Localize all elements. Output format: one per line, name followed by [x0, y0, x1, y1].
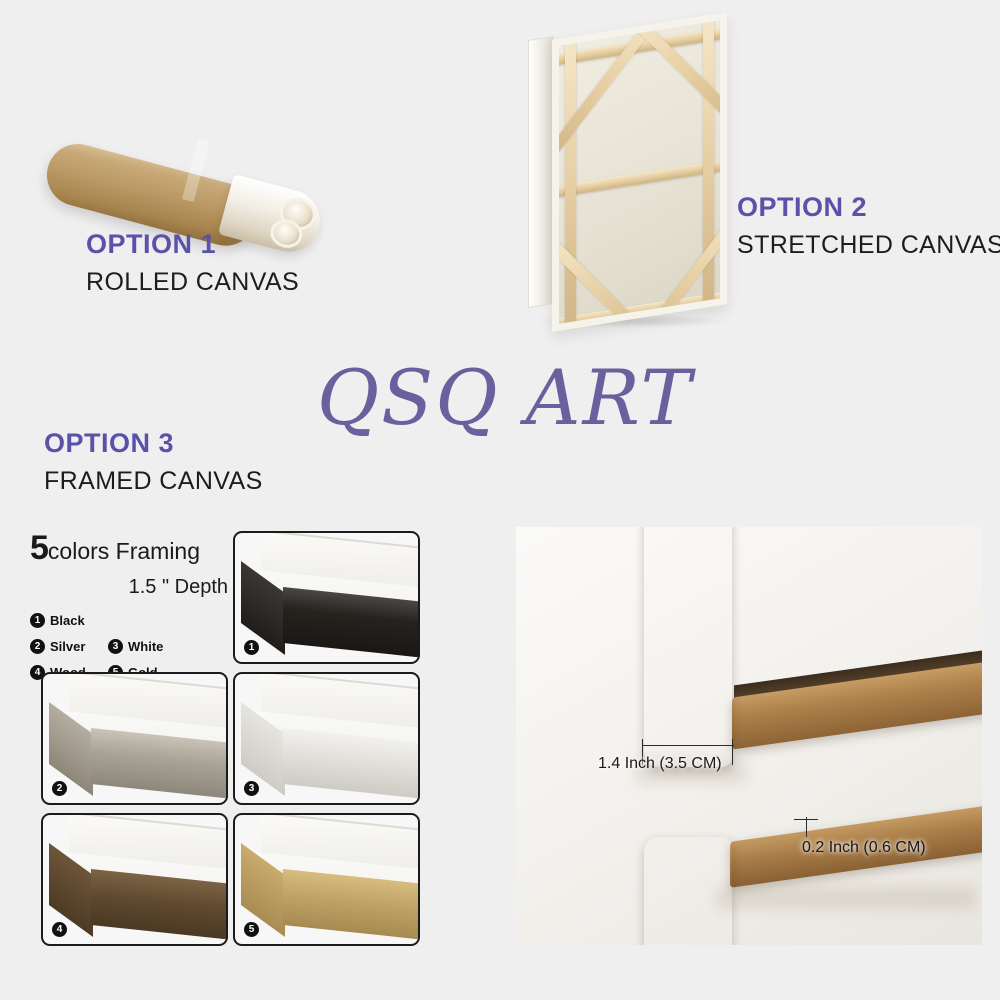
framing-title-rest: colors Framing [48, 538, 200, 564]
badge-5-icon: 5 [244, 922, 259, 937]
legend-row: 2 Silver 3 White [30, 639, 230, 654]
legend-item-white: 3 White [108, 639, 186, 654]
frame-swatch-gold[interactable]: 5 [233, 813, 420, 946]
option-3-kicker: OPTION 3 [44, 430, 263, 457]
frame-swatch-black[interactable]: 1 [233, 531, 420, 664]
badge-1-icon: 1 [30, 613, 45, 628]
frame-swatch-silver[interactable]: 2 [41, 672, 228, 805]
badge-1-icon: 1 [244, 640, 259, 655]
brand-wordmark: QSQ ART [295, 355, 715, 440]
stretcher-bar-left [565, 32, 576, 332]
frame-swatch-wood[interactable]: 4 [41, 813, 228, 946]
product-infographic: OPTION 1 ROLLED CANVAS OPTION 2 STRETCHE… [0, 0, 1000, 1000]
dim-tick-right [732, 739, 733, 765]
legend-label-silver: Silver [50, 639, 85, 654]
option-1-name: ROLLED CANVAS [86, 270, 299, 295]
badge-2-icon: 2 [30, 639, 45, 654]
dimension-frame-gap: 0.2 Inch (0.6 CM) [802, 839, 926, 857]
option-2-kicker: OPTION 2 [737, 194, 1000, 221]
canvas-side-edge [528, 36, 554, 308]
dim-tick-gap [806, 817, 807, 837]
frame-swatch-white[interactable]: 3 [233, 672, 420, 805]
stretcher-bar-middle [553, 159, 727, 198]
legend-item-silver: 2 Silver [30, 639, 108, 654]
badge-3-icon: 3 [244, 781, 259, 796]
framing-color-list: 1 Black 2 Silver 3 White 4 Wood [30, 613, 230, 680]
frame-detail-photo: 1.4 Inch (3.5 CM) 0.2 Inch (0.6 CM) [516, 527, 982, 945]
framing-depth-label: 1.5 " Depth [30, 576, 230, 599]
option-3-name: FRAMED CANVAS [44, 469, 263, 494]
badge-4-icon: 4 [52, 922, 67, 937]
badge-3-icon: 3 [108, 639, 123, 654]
dim-line-gap [794, 819, 818, 820]
option-3-label-group: OPTION 3 FRAMED CANVAS [44, 430, 263, 494]
legend-row: 1 Black [30, 613, 230, 628]
framing-color-count: 5 [30, 529, 48, 567]
option-2-name: STRETCHED CANVAS [737, 233, 1000, 258]
photo-shadow [716, 887, 976, 909]
dim-line-width [642, 745, 734, 746]
legend-label-white: White [128, 639, 163, 654]
option-1-label-group: OPTION 1 ROLLED CANVAS [86, 231, 299, 295]
option-1-kicker: OPTION 1 [86, 231, 299, 258]
dimension-frame-width: 1.4 Inch (3.5 CM) [598, 755, 722, 773]
framing-legend: 5colors Framing 1.5 " Depth 1 Black 2 Si… [30, 531, 230, 691]
legend-item-black: 1 Black [30, 613, 108, 628]
framing-legend-title: 5colors Framing [30, 531, 230, 565]
stretched-canvas-illustration [528, 22, 733, 322]
rolled-canvas-illustration [40, 78, 325, 218]
frame-stile-lower [644, 837, 732, 945]
legend-label-black: Black [50, 613, 85, 628]
canvas-back-face [552, 12, 727, 332]
option-2-label-group: OPTION 2 STRETCHED CANVAS [737, 194, 1000, 258]
frame-stile-upper [644, 527, 732, 767]
badge-2-icon: 2 [52, 781, 67, 796]
